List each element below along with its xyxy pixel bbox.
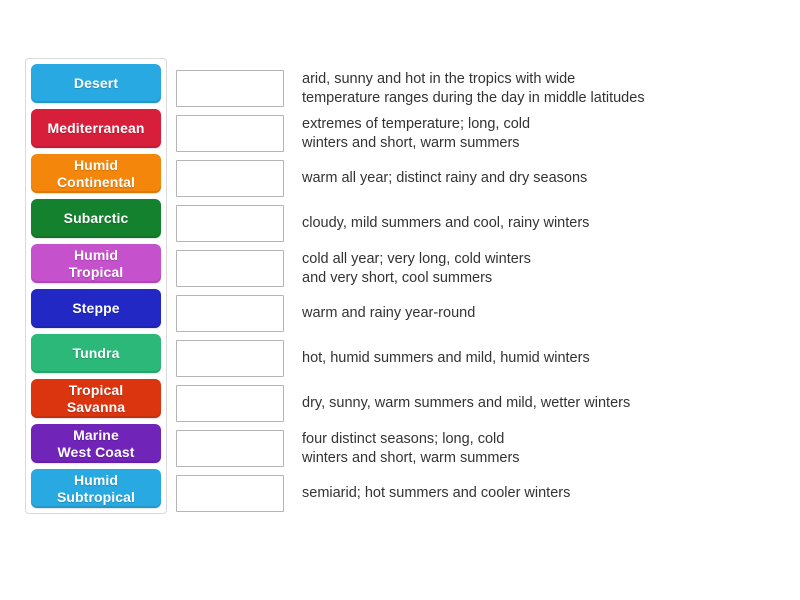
clue-description: warm and rainy year-round: [302, 304, 776, 323]
match-row: warm and rainy year-round: [176, 295, 776, 332]
answer-dropzone[interactable]: [176, 385, 284, 422]
answer-tile-label: Subarctic: [64, 210, 129, 227]
clue-description: extremes of temperature; long, cold wint…: [302, 115, 776, 153]
clue-description: hot, humid summers and mild, humid winte…: [302, 349, 776, 368]
answer-tile-label: Desert: [74, 75, 118, 92]
match-rows-list: arid, sunny and hot in the tropics with …: [176, 70, 776, 512]
match-row: arid, sunny and hot in the tropics with …: [176, 70, 776, 107]
answer-tile[interactable]: Desert: [31, 64, 161, 103]
answer-dropzone[interactable]: [176, 70, 284, 107]
answer-tile-label: Mediterranean: [48, 120, 145, 137]
answer-tile[interactable]: Tropical Savanna: [31, 379, 161, 418]
answer-tile-label: Humid Subtropical: [57, 472, 135, 506]
match-row: cloudy, mild summers and cool, rainy win…: [176, 205, 776, 242]
match-row: hot, humid summers and mild, humid winte…: [176, 340, 776, 377]
answer-dropzone[interactable]: [176, 295, 284, 332]
clue-description: dry, sunny, warm summers and mild, wette…: [302, 394, 776, 413]
answer-tile-label: Marine West Coast: [58, 427, 135, 461]
match-row: four distinct seasons; long, cold winter…: [176, 430, 776, 467]
answer-tile[interactable]: Subarctic: [31, 199, 161, 238]
answer-dropzone[interactable]: [176, 430, 284, 467]
answer-dropzone[interactable]: [176, 160, 284, 197]
answer-dropzone[interactable]: [176, 340, 284, 377]
answer-tile-label: Humid Continental: [57, 157, 135, 191]
answer-dropzone[interactable]: [176, 205, 284, 242]
clue-description: semiarid; hot summers and cooler winters: [302, 484, 776, 503]
answer-tile[interactable]: Humid Continental: [31, 154, 161, 193]
answer-tile[interactable]: Marine West Coast: [31, 424, 161, 463]
clue-description: cloudy, mild summers and cool, rainy win…: [302, 214, 776, 233]
answer-dropzone[interactable]: [176, 250, 284, 287]
clue-description: four distinct seasons; long, cold winter…: [302, 430, 776, 468]
answer-dropzone[interactable]: [176, 115, 284, 152]
match-up-activity: DesertMediterraneanHumid ContinentalSuba…: [0, 0, 800, 600]
match-row: semiarid; hot summers and cooler winters: [176, 475, 776, 512]
answer-tile[interactable]: Mediterranean: [31, 109, 161, 148]
match-row: dry, sunny, warm summers and mild, wette…: [176, 385, 776, 422]
match-row: extremes of temperature; long, cold wint…: [176, 115, 776, 152]
answer-dropzone[interactable]: [176, 475, 284, 512]
answer-tile[interactable]: Humid Tropical: [31, 244, 161, 283]
answer-tiles-panel: DesertMediterraneanHumid ContinentalSuba…: [25, 58, 167, 514]
answer-tile-label: Humid Tropical: [69, 247, 123, 281]
answer-tile-label: Tundra: [72, 345, 119, 362]
answer-tile-label: Steppe: [72, 300, 119, 317]
answer-tile-label: Tropical Savanna: [67, 382, 125, 416]
match-row: warm all year; distinct rainy and dry se…: [176, 160, 776, 197]
clue-description: cold all year; very long, cold winters a…: [302, 250, 776, 288]
match-row: cold all year; very long, cold winters a…: [176, 250, 776, 287]
clue-description: warm all year; distinct rainy and dry se…: [302, 169, 776, 188]
answer-tile[interactable]: Humid Subtropical: [31, 469, 161, 508]
answer-tile[interactable]: Tundra: [31, 334, 161, 373]
clue-description: arid, sunny and hot in the tropics with …: [302, 70, 776, 108]
answer-tile[interactable]: Steppe: [31, 289, 161, 328]
